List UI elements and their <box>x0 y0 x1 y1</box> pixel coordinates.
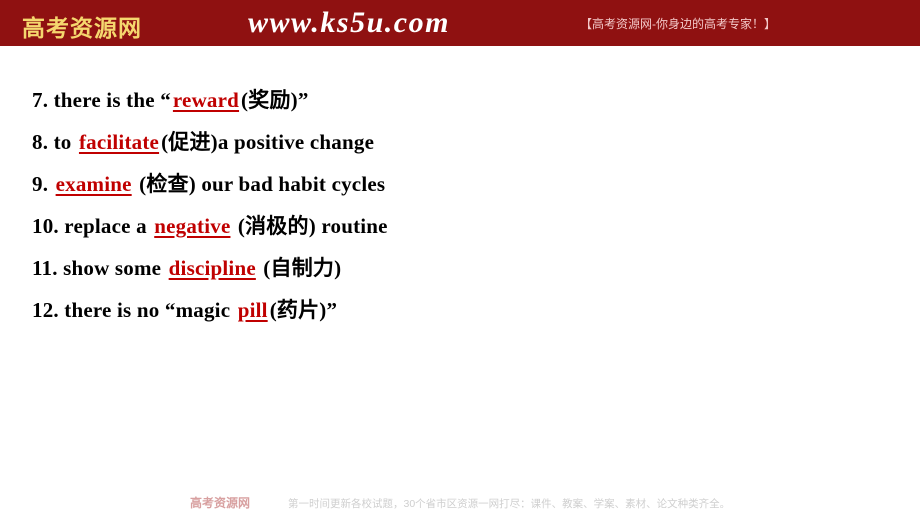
list-item: 7. there is the “reward(奖励)” <box>32 84 309 114</box>
line-suffix: (自制力) <box>258 256 341 280</box>
page-footer: 高考资源网 第一时间更新各校试题，30个省市区资源一网打尽：课件、教案、学案、素… <box>0 488 920 518</box>
answer-blank: discipline <box>167 256 258 280</box>
top-banner: 高考资源网 www.ks5u.com 【高考资源网-你身边的高考专家！】 <box>0 0 920 46</box>
line-suffix: (奖励)” <box>241 88 309 112</box>
line-suffix: (检查) our bad habit cycles <box>134 172 386 196</box>
line-prefix: 8. to <box>32 130 77 154</box>
answer-blank: pill <box>236 298 270 322</box>
brand-logo: 高考资源网 <box>22 9 142 43</box>
line-suffix: (药片)” <box>270 298 338 322</box>
line-prefix: 9. <box>32 172 54 196</box>
line-prefix: 10. replace a <box>32 214 152 238</box>
brand-url: www.ks5u.com <box>248 6 450 40</box>
list-item: 10. replace a negative (消极的) routine <box>32 210 388 240</box>
list-item: 12. there is no “magic pill(药片)” <box>32 294 337 324</box>
list-item: 11. show some discipline (自制力) <box>32 252 341 282</box>
answer-blank: negative <box>152 214 232 238</box>
banner-inner: 高考资源网 www.ks5u.com 【高考资源网-你身边的高考专家！】 <box>0 0 920 46</box>
footer-text: 第一时间更新各校试题，30个省市区资源一网打尽：课件、教案、学案、素材、论文种类… <box>288 496 730 511</box>
answer-blank: reward <box>171 88 241 112</box>
brand-tagline: 【高考资源网-你身边的高考专家！】 <box>580 15 776 32</box>
answer-blank: examine <box>54 172 134 196</box>
list-item: 8. to facilitate(促进)a positive change <box>32 126 374 156</box>
list-item: 9. examine (检查) our bad habit cycles <box>32 168 385 198</box>
answer-blank: facilitate <box>77 130 161 154</box>
answer-list: 7. there is the “reward(奖励)” 8. to facil… <box>0 46 920 476</box>
line-prefix: 7. there is the “ <box>32 88 171 112</box>
line-suffix: (促进)a positive change <box>161 130 374 154</box>
line-prefix: 12. there is no “magic <box>32 298 236 322</box>
line-prefix: 11. show some <box>32 256 167 280</box>
line-suffix: (消极的) routine <box>232 214 387 238</box>
footer-logo: 高考资源网 <box>190 494 250 511</box>
